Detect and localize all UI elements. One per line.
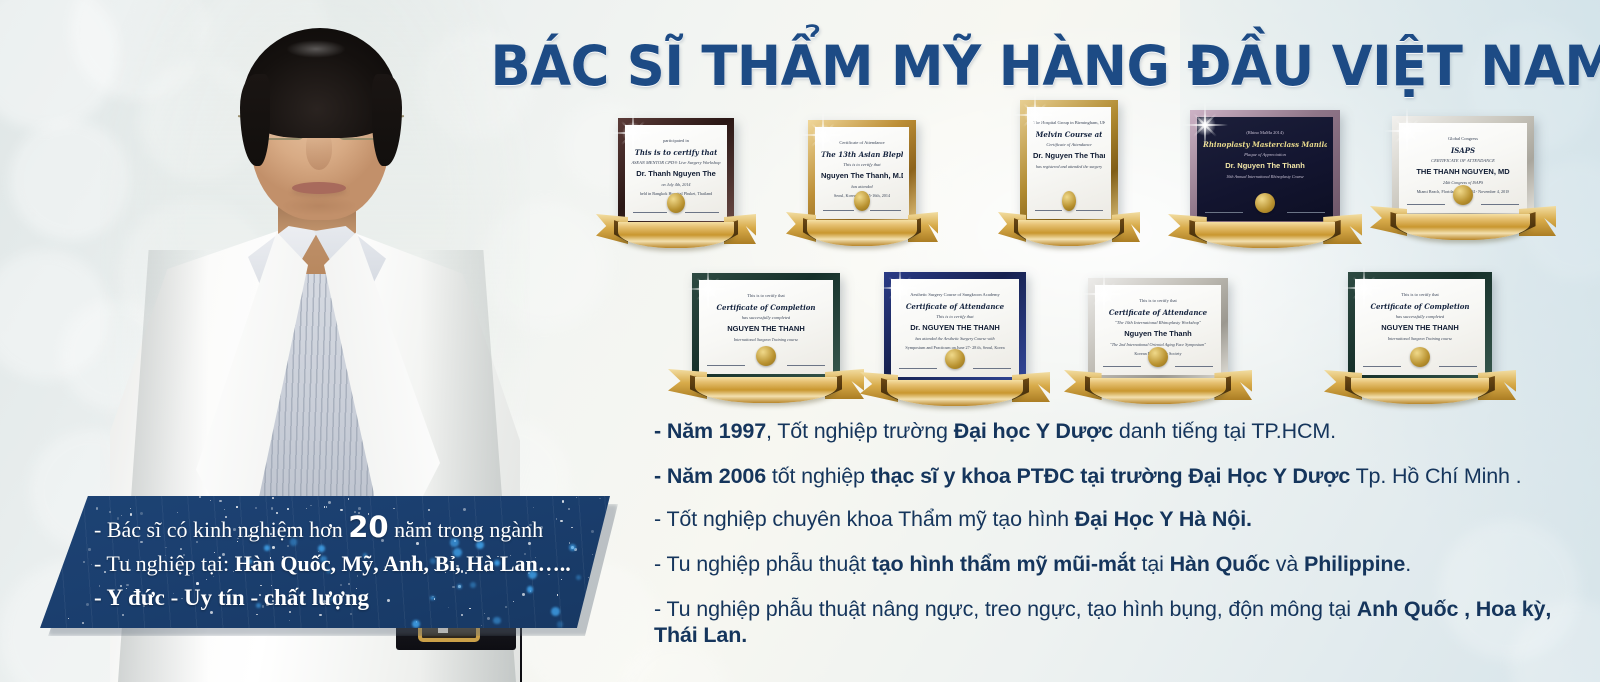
certificate-frame: This is to certify thatCertificate of At… [1088,278,1228,382]
badge-particle [41,537,44,540]
badge-particle [69,532,71,534]
badge-particle [68,618,69,619]
badge-training-label: - Tu nghiệp tại: [94,551,229,576]
certificate-title: Certificate of Attendance [1109,308,1207,317]
credential-segment: Hàn Quốc [1170,552,1270,576]
certificate-cert-birmingham[interactable]: The Hospital Group in Birmingham, UKMelv… [1020,100,1118,226]
gold-seal [854,191,870,211]
certificate-name: Dr. NGUYEN THE THANH [910,323,1000,333]
certificate-footer [1407,185,1519,205]
credential-segment: thạc sĩ y khoa PTĐC tại trường Đại Học Y… [871,464,1351,488]
signature-line-right [870,210,901,211]
credential-segment: - Tốt nghiệp chuyên khoa Thẩm mỹ tạo hìn… [654,507,1075,531]
certificate-sub3: 10th Annual International Rhinoplasty Co… [1226,174,1304,180]
badge-rows: - Bác sĩ có kinh nghiệm hơn 20 năm trong… [40,496,610,615]
gold-seal [1062,191,1076,211]
chin-shadow [280,196,358,216]
certificate-sub3: International Surgeon Training course [1388,336,1453,342]
credential-segment: - Năm 1997 [654,419,766,443]
certificate-name: NGUYEN THE THANH [1381,323,1459,333]
page-title: BÁC SĨ THẨM MỸ HÀNG ĐẦU VIỆT NAM [548,34,1558,98]
signature-line-right [1175,366,1213,367]
signature-line-right [1076,210,1103,211]
badge-experience-years: 20 [348,510,388,544]
gold-seal [1148,347,1168,367]
signature-line-left [899,368,937,369]
certificate-title: The 13th Asian Blepharoplasty Symposium … [821,150,903,159]
badge-row-values: - Y đức - Uy tín - chất lượng [94,581,610,615]
certificate-frame: Aesthetic Surgery Course of Sungkwon Aca… [884,272,1026,384]
certificate-footer [899,349,1011,369]
credential-bullet-mui-mat: - Tu nghiệp phẫu thuật tạo hình thẩm mỹ … [654,551,1564,577]
mouth [292,182,346,194]
certificate-paper: Aesthetic Surgery Course of Sungkwon Aca… [891,279,1019,377]
certificate-sub2: has successfully completed [1396,314,1445,321]
certificate-name: Dr. Nguyen The Thanh [1225,161,1305,171]
credential-segment: và [1270,552,1304,576]
credential-segment: - Tu nghiệp phẫu thuật [654,552,872,576]
credential-segment: danh tiếng tại TP.HCM. [1113,419,1336,443]
badge-training-countries: Hàn Quốc, Mỹ, Anh, Bỉ, Hà Lan….. [235,551,571,576]
credential-segment: tốt nghiệp [766,464,871,488]
gold-seal [756,346,776,366]
certificate-body: This is to certify thatCertificate of Co… [705,287,827,343]
badge-particle [48,513,50,515]
certificate-footer [1205,193,1325,213]
signature-line-left [823,210,854,211]
badge-glow-dot [557,621,564,628]
certificate-footer [633,193,719,213]
badge-row-training: - Tu nghiệp tại: Hàn Quốc, Mỹ, Anh, Bỉ, … [94,547,610,581]
gold-seal [1453,185,1473,205]
badge-particle [42,522,44,524]
certificate-name: NGUYEN THE THANH [727,324,805,334]
certificate-cert-abs-attendance[interactable]: Certificate of AttendanceThe 13th Asian … [808,120,916,226]
certificate-paper: This is to certify thatCertificate of Co… [699,280,833,374]
badge-particle [82,622,84,624]
certificate-frame: The Hospital Group in Birmingham, UKMelv… [1020,100,1118,226]
badge-particle [54,557,57,560]
certificate-frame: (Rhino MaMa 2014)Rhinoplasty Masterclass… [1190,110,1340,228]
hair-highlight [286,40,346,58]
certificate-sub3: has attended [851,184,872,190]
certificate-title: ISAPS [1451,146,1475,155]
certificate-sub3: on July 4th, 2014 [661,182,690,188]
signature-line-right [787,365,825,366]
badge-particle [47,593,48,594]
signature-line-right [1439,366,1477,367]
credential-segment: - Năm 2006 [654,464,766,488]
credentials-list: - Năm 1997, Tốt nghiệp trường Đại học Y … [654,418,1564,667]
certificate-cert-completion-gtbio-2[interactable]: This is to certify thatCertificate of Co… [1348,272,1492,382]
signature-line-right [685,212,719,213]
credential-bullet-1997: - Năm 1997, Tốt nghiệp trường Đại học Y … [654,418,1564,444]
certificate-frame: Global CongressISAPSCERTIFICATE OF ATTEN… [1392,116,1534,220]
certificate-sub1: This is to certify that [1139,298,1177,305]
certificate-title: Rhinoplasty Masterclass Manila [1203,140,1327,149]
signature-line-left [1363,366,1401,367]
certificate-body: Aesthetic Surgery Course of Sungkwon Aca… [897,286,1013,351]
certificate-paper: Certificate of AttendanceThe 13th Asian … [815,127,909,219]
certificate-cert-aesculap-mentor[interactable]: participated inThis is to certify thatAS… [618,118,734,228]
certificate-sub1: This is to certify that [1401,292,1439,299]
credential-bullet-2006: - Năm 2006 tốt nghiệp thạc sĩ y khoa PTĐ… [654,463,1564,489]
certificate-title: Certificate of Completion [1370,302,1469,311]
certificate-cert-attendance-aesthetic[interactable]: Aesthetic Surgery Course of Sungkwon Aca… [884,272,1026,384]
signature-line-left [1407,204,1445,205]
signature-line-left [1103,366,1141,367]
badge-particle [289,620,290,621]
certificate-paper: Global CongressISAPSCERTIFICATE OF ATTEN… [1399,123,1527,213]
credential-segment: , Tốt nghiệp trường [766,419,954,443]
certificate-sub3: International Surgeon Training course [734,337,799,343]
certificate-title: Certificate of Attendance [906,302,1004,311]
certificate-paper: This is to certify thatCertificate of Co… [1355,279,1485,375]
certificate-paper: This is to certify thatCertificate of At… [1095,285,1221,375]
certificate-footer [1035,191,1103,211]
certificate-sub2: ASEAN MENTOR CPD® Live Surgery Workshop [631,160,720,167]
certificate-paper: (Rhino MaMa 2014)Rhinoplasty Masterclass… [1197,117,1333,221]
badge-particle [42,605,43,606]
certificate-footer [1363,347,1477,367]
certificate-footer [1103,347,1213,367]
credential-segment: Đại học Y Dược [954,419,1113,443]
certificate-name: Dr. Nguyen The Thanh [1033,151,1105,161]
certificate-sub2: Plaque of Appreciation [1244,152,1286,159]
bokeh-circle [0,250,110,380]
certificate-sub2: has successfully completed [742,315,791,322]
certificate-sub1: This is to certify that [747,293,785,300]
certificate-footer [707,346,825,366]
badge-particle [55,504,56,505]
certificate-footer [823,191,901,211]
badge-experience-post: năm trong ngành [394,517,543,542]
credential-segment: Đại Học Y Hà Nội. [1075,507,1252,531]
signature-line-right [1481,204,1519,205]
credentials-badge: - Bác sĩ có kinh nghiệm hơn 20 năm trong… [40,496,610,628]
certificate-title: Melvin Course at [1036,130,1103,139]
certificate-cert-isaps[interactable]: Global CongressISAPSCERTIFICATE OF ATTEN… [1392,116,1534,220]
credential-segment: - Tu nghiệp phẫu thuật nâng ngực, treo n… [654,597,1357,621]
badge-particle [53,538,55,540]
signature-line-left [1035,210,1062,211]
certificate-sub1: The Hospital Group in Birmingham, UK [1033,120,1105,127]
badge-row-experience: - Bác sĩ có kinh nghiệm hơn 20 năm trong… [94,510,610,547]
certificate-body: Certificate of AttendanceThe 13th Asian … [821,134,903,199]
certificate-paper: participated inThis is to certify thatAS… [625,125,727,221]
badge-particle [43,508,46,511]
credential-bullet-chuyen-khoa: - Tốt nghiệp chuyên khoa Thẩm mỹ tạo hìn… [654,506,1564,532]
certificate-sub1: Aesthetic Surgery Course of Sungkwon Aca… [910,292,1000,299]
signature-line-left [707,365,745,366]
page-title-text: BÁC SĨ THẨM MỸ HÀNG ĐẦU VIỆT NAM [490,34,1600,98]
badge-experience-pre: - Bác sĩ có kinh nghiệm hơn [94,517,343,542]
certificate-sub1: Global Congress [1448,136,1478,143]
badge-particle [61,507,62,508]
badge-particle [481,625,482,626]
signature-line-right [1287,212,1325,213]
certificate-body: This is to certify thatCertificate of Co… [1361,286,1479,342]
badge-particle [44,498,46,500]
certificate-cert-attendance-rhinoplasty-workshop[interactable]: This is to certify thatCertificate of At… [1088,278,1228,382]
certificate-sub2: Certificate of Attendance [1046,142,1091,149]
certificate-sub1: participated in [663,138,689,145]
badge-glow-dot [412,620,420,628]
signature-line-left [633,212,667,213]
certificate-body: participated inThis is to certify thatAS… [631,132,721,197]
certificate-cert-completion-gtbio-1[interactable]: This is to certify thatCertificate of Co… [692,273,840,381]
certificate-sub1: Certificate of Attendance [839,140,884,147]
credential-segment: . [1405,552,1411,576]
gold-seal [1255,193,1275,213]
certificate-title: Certificate of Completion [716,303,815,312]
certificate-sub2: This is to certify that [843,162,880,169]
certificate-name: Dr. Thanh Nguyen The [636,169,716,179]
certificate-frame: Certificate of AttendanceThe 13th Asian … [808,120,916,226]
certificate-frame: This is to certify thatCertificate of Co… [1348,272,1492,382]
certificate-sub3: has registered and attended the surgery [1036,164,1102,170]
credential-segment: Tp. Hồ Chí Minh . [1350,464,1521,488]
certificate-sub2: CERTIFICATE OF ATTENDANCE [1431,158,1495,165]
certificate-sub2: This is to certify that [936,314,973,321]
credential-segment: Philippine [1304,552,1405,576]
certificate-cert-rhinoplasty-manila[interactable]: (Rhino MaMa 2014)Rhinoplasty Masterclass… [1190,110,1340,228]
credential-bullet-nang-nguc: - Tu nghiệp phẫu thuật nâng ngực, treo n… [654,596,1564,648]
certificate-name: Nguyen The Thanh [1124,329,1192,339]
gold-seal [945,349,965,369]
certificate-sub3: has attended the Aesthetic Surgery Cours… [915,336,994,342]
certificate-body: (Rhino MaMa 2014)Rhinoplasty Masterclass… [1203,124,1327,180]
badge-glow-dot [493,617,501,625]
certificate-name: THE THANH NGUYEN, MD [1416,167,1509,177]
badge-particle [487,617,490,620]
certificate-paper: The Hospital Group in Birmingham, UKMelv… [1027,107,1111,219]
gold-seal [667,193,685,213]
signature-line-right [973,368,1011,369]
certificate-body: The Hospital Group in Birmingham, UKMelv… [1033,114,1105,170]
credential-segment: tạo hình thẩm mỹ mũi-mắt [872,552,1136,576]
badge-particle [416,621,418,623]
certificate-name: Nguyen The Thanh, M.D [821,171,903,181]
credential-segment: tại [1136,552,1170,576]
certificate-sub1: (Rhino MaMa 2014) [1246,130,1283,137]
certificate-title: This is to certify that [635,148,718,157]
certificate-sub2: "The 10th International Rhinoplasty Work… [1115,320,1201,327]
certificate-frame: This is to certify thatCertificate of Co… [692,273,840,381]
gold-seal [1410,347,1430,367]
signature-line-left [1205,212,1243,213]
certificate-frame: participated inThis is to certify thatAS… [618,118,734,228]
